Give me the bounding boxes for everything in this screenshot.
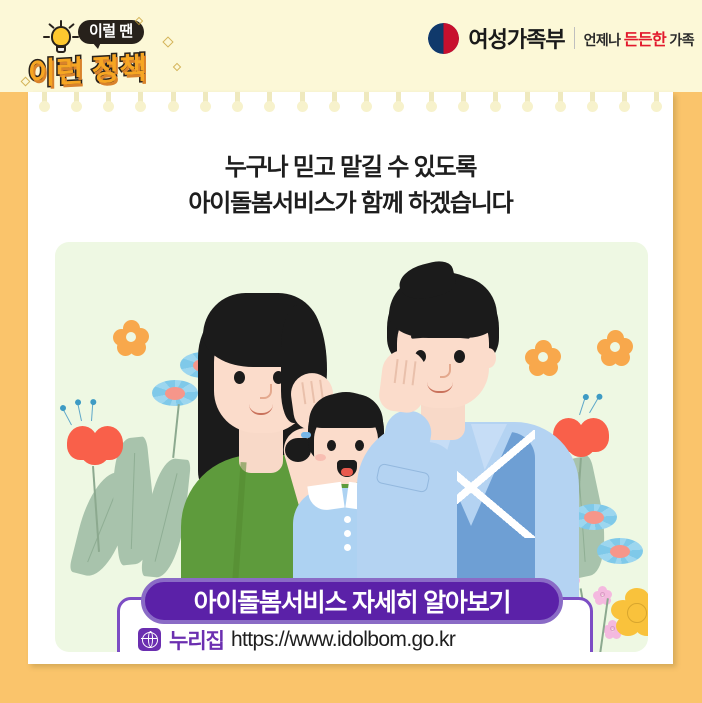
tear-tab — [393, 92, 404, 114]
bulb-glass — [51, 26, 71, 47]
headline-line-1: 누구나 믿고 맡길 수 있도록 — [225, 154, 477, 181]
learn-more-label: 아이돌봄서비스 자세히 알아보기 — [194, 583, 511, 619]
ministry-logo: 여성가족부 언제나 든든한 가족 — [428, 20, 694, 56]
website-url[interactable]: https://www.idolbom.go.kr — [231, 628, 455, 652]
child-button — [344, 516, 351, 523]
slogan-suffix: 가족 — [666, 32, 694, 48]
orange-flower-decoration — [113, 320, 149, 354]
tear-tab — [619, 92, 630, 114]
child-cheek-left — [315, 454, 326, 461]
tear-tab — [522, 92, 533, 114]
contact-row-website[interactable]: 누리집 https://www.idolbom.go.kr — [138, 623, 590, 652]
website-label: 누리집 — [169, 625, 224, 653]
bulb-ray — [60, 20, 62, 27]
tear-tab — [39, 92, 50, 114]
tear-tab — [103, 92, 114, 114]
campaign-logo: 이럴 땐 이런 정책 — [16, 8, 186, 86]
blue-flower-decoration — [597, 538, 643, 571]
child-button — [344, 530, 351, 537]
sparkle-icon — [173, 63, 181, 71]
tear-tab — [651, 92, 662, 114]
header-band: 이럴 땐 이런 정책 여성가족부 언제나 든든한 가족 — [0, 0, 702, 92]
campaign-title: 이런 정책 — [28, 43, 147, 93]
tear-tab — [168, 92, 179, 114]
tear-tab — [264, 92, 275, 114]
yellow-flower-decoration — [611, 588, 648, 640]
child-eye-left — [327, 440, 336, 451]
campaign-bubble-text: 이럴 땐 — [78, 20, 144, 44]
tear-tab — [200, 92, 211, 114]
father-ear — [481, 348, 496, 368]
tear-tab — [490, 92, 501, 114]
family-illustration: 누리집 https://www.idolbom.go.kr ☎ 전화 1577-… — [55, 242, 648, 652]
logo-divider — [574, 27, 575, 49]
bulb-ray — [48, 23, 55, 29]
learn-more-button[interactable]: 아이돌봄서비스 자세히 알아보기 — [141, 578, 563, 624]
child-hair-tie-left — [301, 432, 311, 438]
red-tulip-decoration — [67, 420, 123, 468]
slogan-accent: 든든한 — [624, 32, 666, 49]
tear-tab — [329, 92, 340, 114]
tear-tab — [361, 92, 372, 114]
slogan-prefix: 언제나 — [584, 32, 624, 48]
ministry-slogan: 언제나 든든한 가족 — [584, 26, 694, 50]
tear-tab — [135, 92, 146, 114]
headline-line-2: 아이돌봄서비스가 함께 하겠습니다 — [28, 186, 673, 222]
tear-tab — [297, 92, 308, 114]
sparkle-icon — [162, 36, 173, 47]
tear-tab — [587, 92, 598, 114]
tear-tab — [458, 92, 469, 114]
globe-icon — [138, 628, 161, 651]
tear-tab — [232, 92, 243, 114]
orange-flower-decoration — [597, 330, 633, 364]
child-button — [344, 544, 351, 551]
tear-tab — [555, 92, 566, 114]
bulb-ray — [68, 23, 75, 29]
father-hand — [377, 348, 428, 415]
content-card: 누구나 믿고 맡길 수 있도록 아이돌봄서비스가 함께 하겠습니다 — [28, 92, 673, 664]
tear-tab — [426, 92, 437, 114]
pink-flower-decoration — [593, 586, 613, 605]
father-eye-right — [454, 350, 465, 363]
taegeuk-icon — [428, 23, 459, 54]
page-title: 누구나 믿고 맡길 수 있도록 아이돌봄서비스가 함께 하겠습니다 — [28, 150, 673, 222]
mother-eye-left — [234, 371, 245, 384]
ministry-name: 여성가족부 — [468, 22, 564, 54]
bulb-ray — [43, 36, 50, 38]
tear-tab — [71, 92, 82, 114]
torn-paper-edge — [28, 92, 673, 116]
